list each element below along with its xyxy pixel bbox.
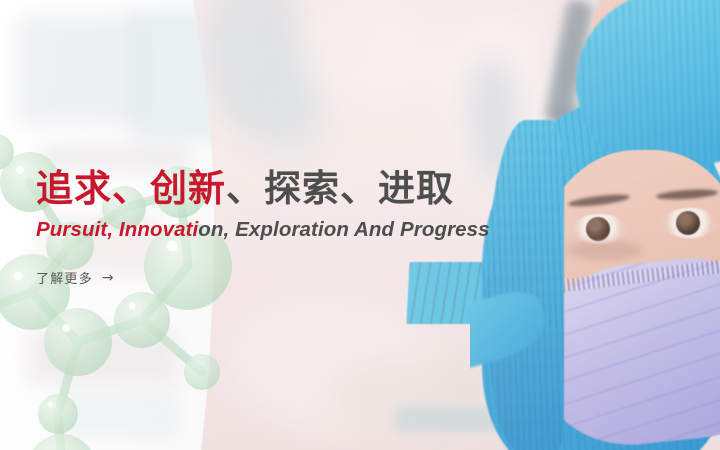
hero-banner: 追求、创新、探索、进取 Pursuit, Innovation, Explora… [0,0,720,450]
page-title: 追求、创新、探索、进取 [36,168,656,209]
panel-ghost-shape [60,392,178,438]
subtitle-accent: Pursuit, Innovati [36,218,198,241]
page-subtitle: Pursuit, Innovation, Exploration And Pro… [36,218,656,242]
headline-rest: 、探索、进取 [226,167,454,210]
panel-ghost-shape [28,330,178,384]
headline-accent: 追求、创新 [36,167,226,210]
learn-more-label: 了解更多 [36,268,93,287]
hero-copy: 追求、创新、探索、进取 Pursuit, Innovation, Explora… [36,168,656,288]
subtitle-rest: on, Exploration And Progress [198,218,489,241]
learn-more-link[interactable]: 了解更多 → [36,268,115,287]
arrow-right-icon: → [102,271,115,285]
panel-ghost-shape [18,16,144,124]
